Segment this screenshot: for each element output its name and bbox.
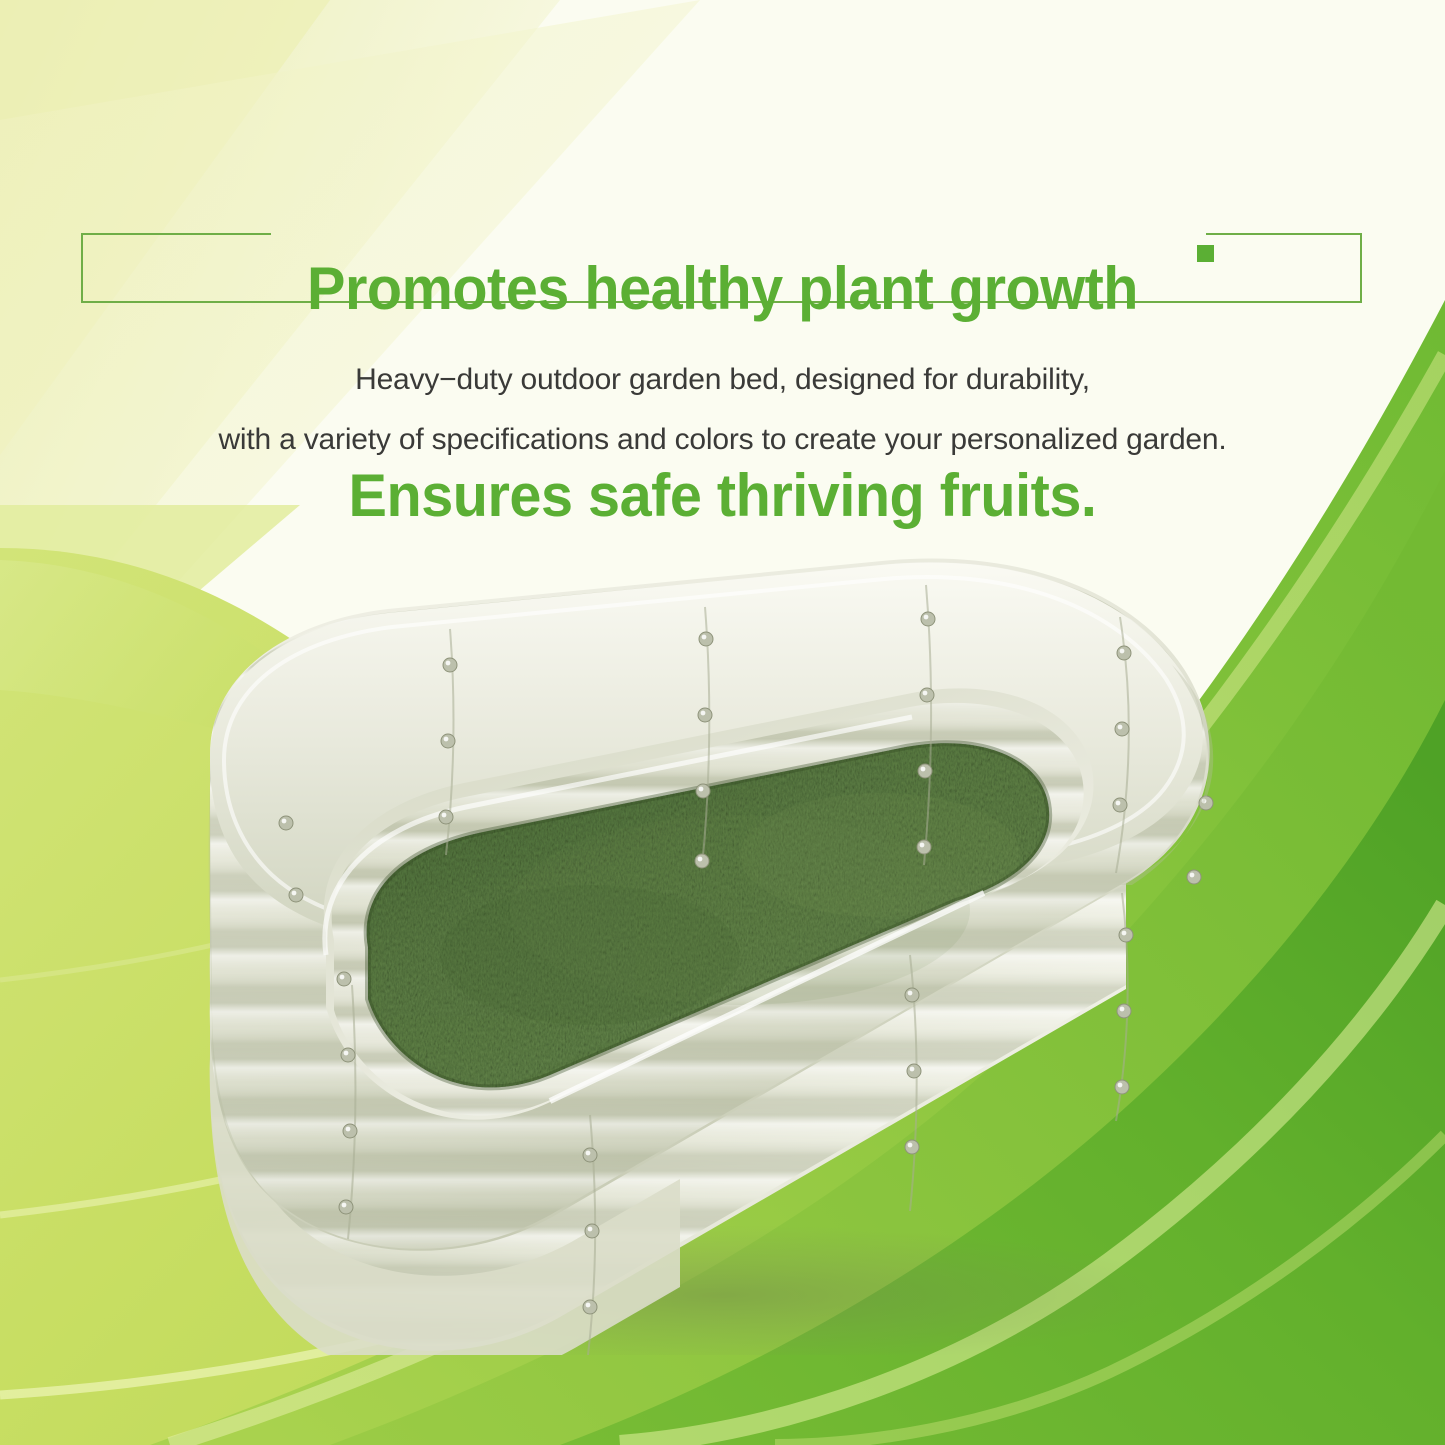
subtitle: Heavy−duty outdoor garden bed, designed …: [0, 350, 1445, 470]
product-banner: Promotes healthy plant growth Ensures sa…: [0, 0, 1445, 1445]
product-image-raised-garden-bed: [120, 555, 1310, 1355]
headline-line-1: Promotes healthy plant growth: [29, 255, 1416, 323]
subtitle-line-2: with a variety of specifications and col…: [0, 410, 1445, 470]
subtitle-line-1: Heavy−duty outdoor garden bed, designed …: [0, 350, 1445, 410]
headline-line-2: Ensures safe thriving fruits.: [29, 462, 1416, 530]
garden-bed-illustration: [120, 555, 1310, 1355]
accent-square: [1197, 245, 1214, 262]
